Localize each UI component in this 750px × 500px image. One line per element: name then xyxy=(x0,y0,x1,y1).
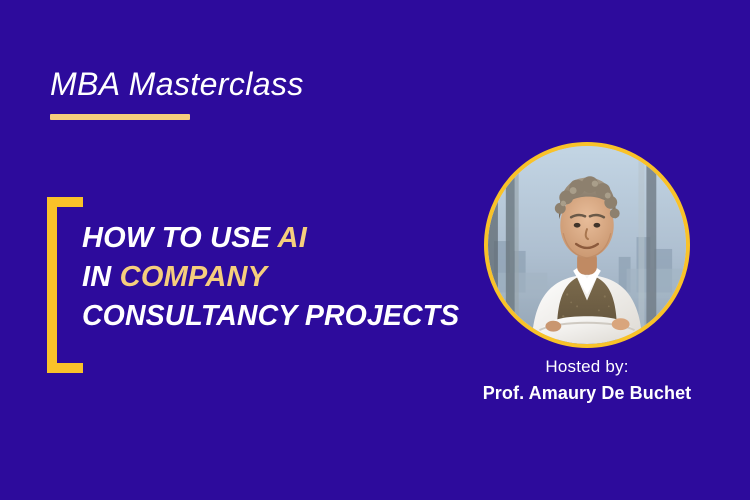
headline-line-1-accent: AI xyxy=(278,222,307,254)
host-credit: Hosted by: Prof. Amaury De Buchet xyxy=(455,356,719,405)
headline-line-2-white: IN xyxy=(82,261,120,293)
headline-line-1-white: HOW TO USE xyxy=(82,222,278,254)
kicker-underline-rule xyxy=(50,114,190,120)
masterclass-promo-banner: MBA Masterclass HOW TO USE AI IN COMPANY… xyxy=(0,0,750,500)
host-name: Prof. Amaury De Buchet xyxy=(455,382,719,405)
headline-line-1: HOW TO USE AI xyxy=(82,219,502,258)
kicker-text: MBA Masterclass xyxy=(50,68,304,102)
hosted-by-label: Hosted by: xyxy=(455,356,719,378)
speaker-portrait-photo xyxy=(488,146,686,344)
left-bracket-icon xyxy=(47,197,83,373)
headline-line-3: CONSULTANCY PROJECTS xyxy=(82,297,502,336)
kicker-block: MBA Masterclass xyxy=(50,68,304,120)
avatar xyxy=(484,142,690,348)
headline-line-2: IN COMPANY xyxy=(82,258,502,297)
page-title: HOW TO USE AI IN COMPANY CONSULTANCY PRO… xyxy=(82,219,502,336)
headline-line-2-accent: COMPANY xyxy=(120,261,267,293)
